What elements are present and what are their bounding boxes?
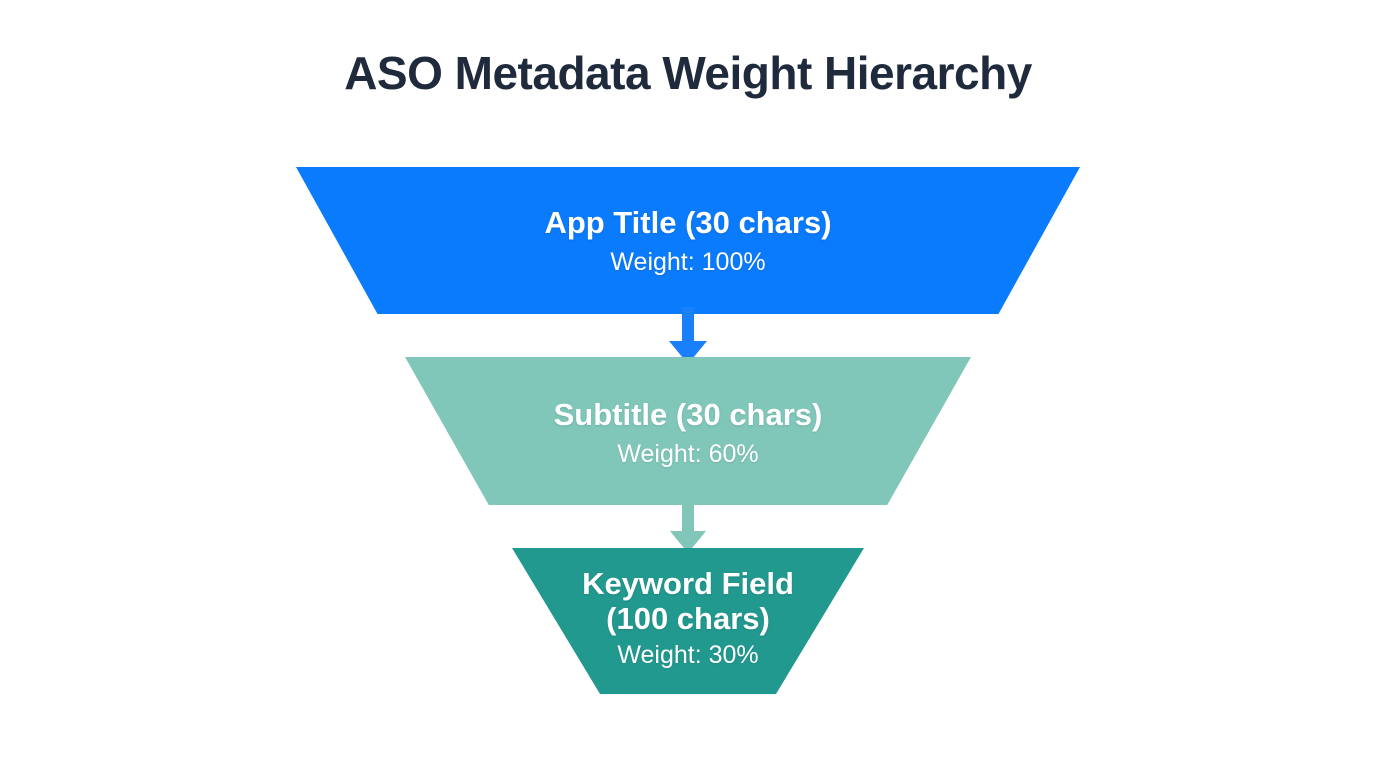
funnel-stage-label-line1: Keyword Field: [582, 567, 794, 602]
funnel-stage-shape: Keyword Field (100 chars) Weight: 30%: [512, 548, 864, 694]
funnel-stage-app-title[interactable]: App Title (30 chars) Weight: 100%: [0, 167, 1376, 314]
funnel-stage-weight: Weight: 30%: [617, 641, 758, 670]
connector-subtitle-to-keyword: [0, 498, 1376, 554]
funnel-stage-subtitle[interactable]: Subtitle (30 chars) Weight: 60%: [0, 357, 1376, 505]
funnel-stage-label: Subtitle (30 chars): [554, 398, 823, 433]
funnel-diagram: App Title (30 chars) Weight: 100% Subtit…: [0, 167, 1376, 707]
funnel-stage-shape: App Title (30 chars) Weight: 100%: [296, 167, 1080, 314]
diagram-canvas: ASO Metadata Weight Hierarchy App Title …: [0, 0, 1376, 768]
funnel-stage-weight: Weight: 60%: [617, 440, 758, 469]
funnel-stage-label: App Title (30 chars): [544, 206, 831, 241]
arrow-down-icon: [668, 498, 708, 554]
funnel-stage-weight: Weight: 100%: [610, 248, 765, 277]
page-title: ASO Metadata Weight Hierarchy: [0, 48, 1376, 99]
funnel-stage-keyword-field[interactable]: Keyword Field (100 chars) Weight: 30%: [0, 548, 1376, 694]
funnel-stage-label-line2: (100 chars): [606, 602, 770, 637]
funnel-stage-shape: Subtitle (30 chars) Weight: 60%: [405, 357, 971, 505]
